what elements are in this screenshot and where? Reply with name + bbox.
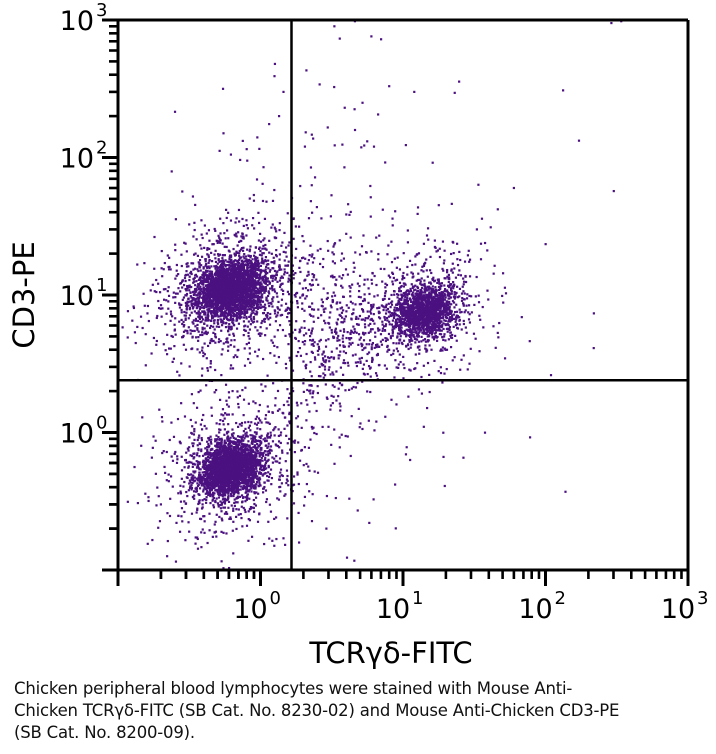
figure-caption: Chicken peripheral blood lymphocytes wer… xyxy=(14,678,704,744)
x-axis-title: TCRγδ-FITC xyxy=(308,636,472,670)
scatter-plot[interactable]: 100101102103100101102103 TCRγδ-FITCCD3-P… xyxy=(0,0,716,670)
y-axis-title: CD3-PE xyxy=(7,241,41,348)
flow-cytometry-figure: 100101102103100101102103 TCRγδ-FITCCD3-P… xyxy=(0,0,716,754)
caption-line-1: Chicken peripheral blood lymphocytes wer… xyxy=(14,678,704,700)
caption-line-2: Chicken TCRγδ-FITC (SB Cat. No. 8230-02)… xyxy=(14,700,704,722)
caption-line-3: (SB Cat. No. 8200-09). xyxy=(14,722,704,744)
